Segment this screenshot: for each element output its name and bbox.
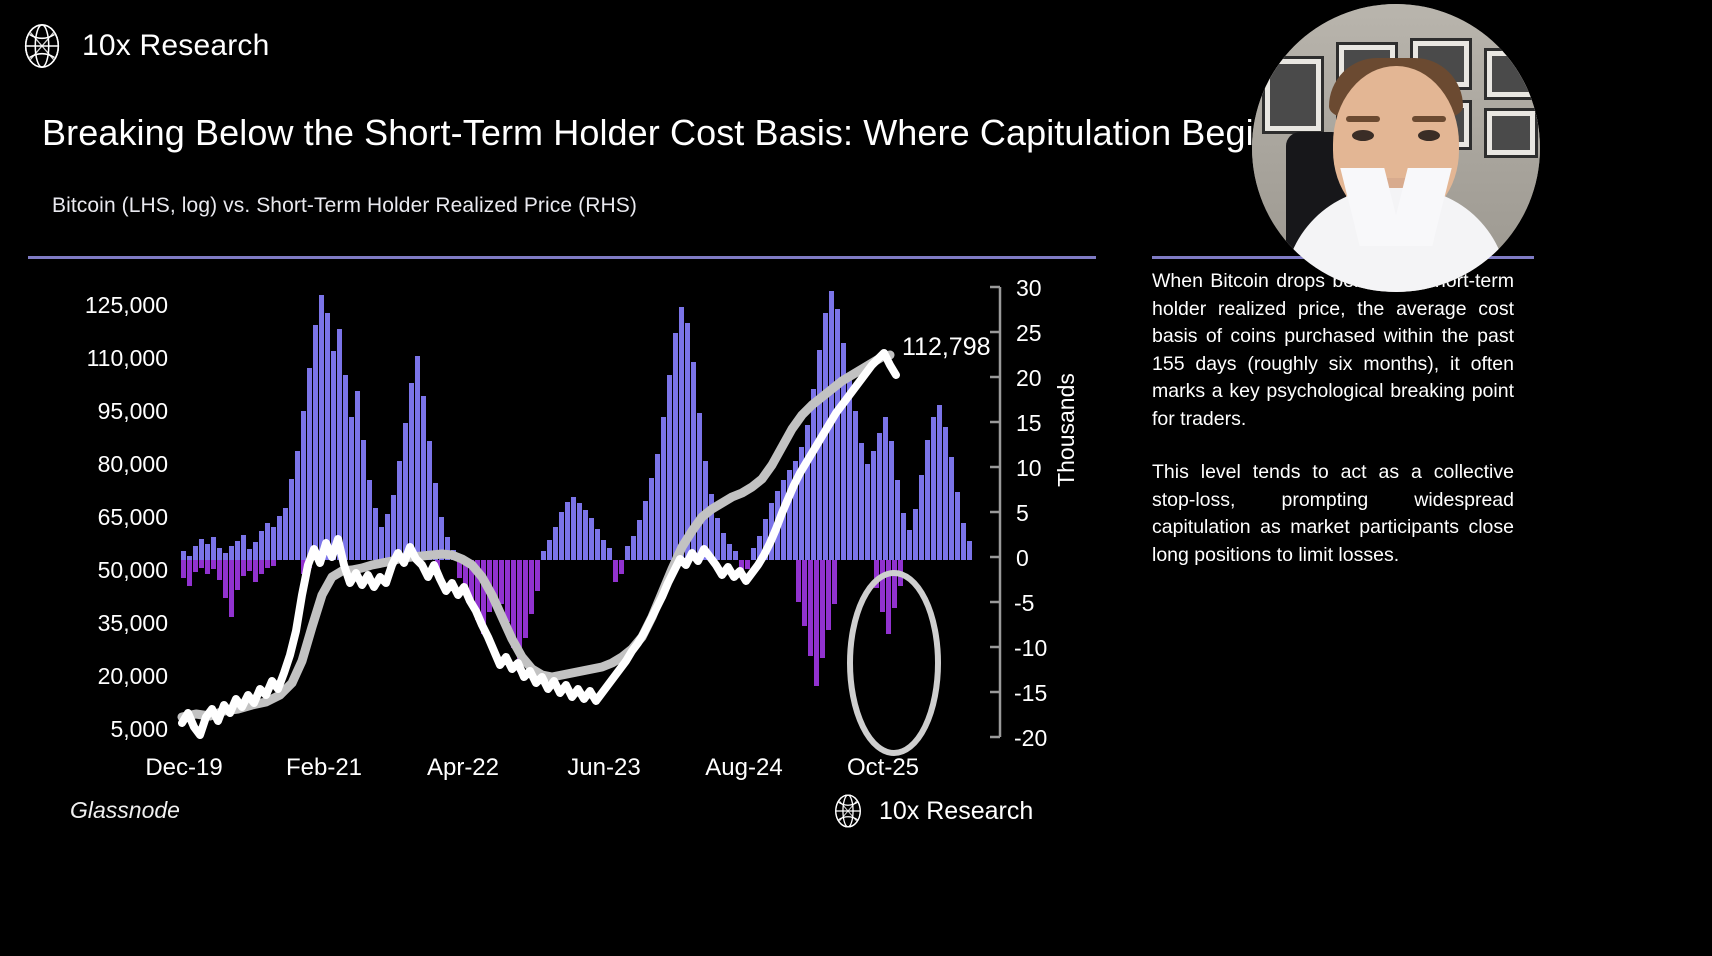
data-source-label: Glassnode bbox=[70, 797, 180, 824]
globe-lattice-icon bbox=[18, 22, 66, 70]
svg-text:-15: -15 bbox=[1014, 680, 1047, 706]
brand-name: 10x Research bbox=[82, 29, 270, 63]
x-axis-labels: Dec-19 Feb-21 Apr-22 Jun-23 Aug-24 Oct-2… bbox=[145, 754, 919, 781]
y-axis-right-title: Thousands bbox=[1053, 373, 1079, 487]
presenter-eye-left bbox=[1352, 130, 1374, 141]
spread-bars-positive bbox=[181, 291, 972, 560]
bitcoin-sth-cost-basis-chart: 125,000 110,000 95,000 80,000 65,000 50,… bbox=[0, 265, 1140, 825]
y-axis-left-labels: 125,000 110,000 95,000 80,000 65,000 50,… bbox=[85, 292, 168, 742]
chart-container: 125,000 110,000 95,000 80,000 65,000 50,… bbox=[0, 265, 1140, 825]
presenter-eye-right bbox=[1418, 130, 1440, 141]
svg-text:65,000: 65,000 bbox=[98, 504, 168, 530]
svg-text:25: 25 bbox=[1016, 320, 1042, 346]
svg-text:20,000: 20,000 bbox=[98, 663, 168, 689]
slide-canvas: 10x Research Breaking Below the Short-Te… bbox=[0, 0, 1712, 956]
svg-text:5,000: 5,000 bbox=[110, 716, 168, 742]
svg-text:50,000: 50,000 bbox=[98, 557, 168, 583]
footer-brand: 10x Research bbox=[830, 793, 1033, 829]
svg-text:Apr-22: Apr-22 bbox=[427, 754, 499, 781]
presenter-brow-left bbox=[1346, 116, 1380, 122]
globe-lattice-icon bbox=[830, 793, 866, 829]
footer-brand-name: 10x Research bbox=[879, 797, 1033, 826]
page-title: Breaking Below the Short-Term Holder Cos… bbox=[42, 112, 1292, 154]
presenter-brow-right bbox=[1412, 116, 1446, 122]
svg-text:Oct-25: Oct-25 bbox=[847, 754, 919, 781]
svg-text:5: 5 bbox=[1016, 500, 1029, 526]
svg-text:-10: -10 bbox=[1014, 635, 1047, 661]
svg-text:Dec-19: Dec-19 bbox=[145, 754, 222, 781]
svg-text:35,000: 35,000 bbox=[98, 610, 168, 636]
svg-text:80,000: 80,000 bbox=[98, 451, 168, 477]
svg-text:15: 15 bbox=[1016, 410, 1042, 436]
y-axis-right-labels: 30 25 20 15 10 5 0 -5 -10 -15 -20 bbox=[1014, 275, 1047, 751]
svg-text:95,000: 95,000 bbox=[98, 398, 168, 424]
svg-text:Jun-23: Jun-23 bbox=[567, 754, 640, 781]
svg-text:20: 20 bbox=[1016, 365, 1042, 391]
svg-text:110,000: 110,000 bbox=[87, 345, 168, 371]
divider-left bbox=[28, 256, 1096, 259]
svg-text:-5: -5 bbox=[1014, 590, 1034, 616]
commentary-paragraph-2: This level tends to act as a collective … bbox=[1152, 459, 1514, 569]
page-subtitle: Bitcoin (LHS, log) vs. Short-Term Holder… bbox=[52, 194, 637, 218]
svg-text:-20: -20 bbox=[1014, 725, 1047, 751]
svg-text:30: 30 bbox=[1016, 275, 1042, 301]
end-value-label: 112,798 bbox=[902, 333, 991, 361]
svg-text:10: 10 bbox=[1016, 455, 1042, 481]
svg-text:Feb-21: Feb-21 bbox=[286, 754, 362, 781]
commentary-paragraph-1: When Bitcoin drops below the short-term … bbox=[1152, 268, 1514, 433]
svg-text:0: 0 bbox=[1016, 545, 1029, 571]
brand-header: 10x Research bbox=[18, 22, 270, 70]
y-axis-right-spine bbox=[990, 287, 1000, 737]
commentary-panel: When Bitcoin drops below the short-term … bbox=[1152, 268, 1514, 569]
svg-text:Aug-24: Aug-24 bbox=[705, 754, 782, 781]
svg-text:125,000: 125,000 bbox=[85, 292, 168, 318]
presenter-webcam-bubble[interactable] bbox=[1252, 4, 1540, 292]
